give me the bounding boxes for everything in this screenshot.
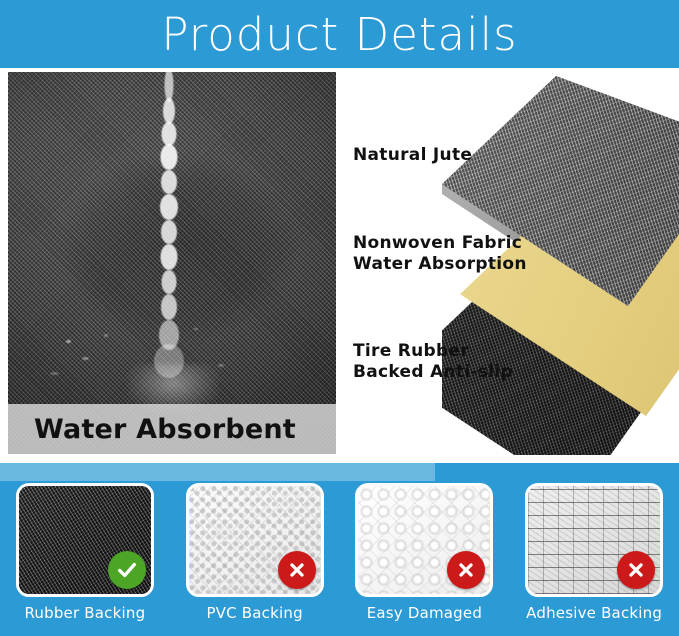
- card-label: PVC Backing: [206, 604, 302, 622]
- comparison-card-easy-damaged[interactable]: Easy Damaged: [351, 483, 497, 622]
- panel-shadow-strip: [0, 463, 435, 481]
- comparison-card-row: Rubber Backing PVC Backing: [0, 483, 679, 623]
- water-absorption-photo: Water Absorbent: [8, 72, 336, 454]
- swatch-pvc: [186, 483, 324, 597]
- check-icon: [108, 551, 146, 589]
- comparison-card-rubber-backing[interactable]: Rubber Backing: [12, 483, 158, 622]
- label-tire-rubber: Tire Rubber Backed Anti-slip: [353, 341, 513, 383]
- water-absorbent-banner: Water Absorbent: [8, 404, 336, 454]
- product-details-infographic: Product Details Water Absorbent: [0, 0, 679, 636]
- cross-icon: [278, 551, 316, 589]
- water-stream: [156, 72, 182, 398]
- comparison-section: Rubber Backing PVC Backing: [0, 463, 679, 636]
- main-panel: Water Absorbent Natural Jute Nonwoven Fa…: [0, 68, 679, 463]
- page-title: Product Details: [0, 0, 679, 68]
- water-absorbent-label: Water Absorbent: [8, 414, 296, 445]
- card-label: Adhesive Backing: [526, 604, 662, 622]
- layer-diagram: Natural Jute Nonwoven Fabric Water Absor…: [336, 68, 679, 463]
- label-nonwoven-fabric: Nonwoven Fabric Water Absorption: [353, 233, 527, 275]
- comparison-card-adhesive-backing[interactable]: Adhesive Backing: [521, 483, 667, 622]
- card-label: Easy Damaged: [367, 604, 482, 622]
- swatch-adhesive: [525, 483, 663, 597]
- swatch-foam: [355, 483, 493, 597]
- swatch-rubber: [16, 483, 154, 597]
- card-label: Rubber Backing: [24, 604, 145, 622]
- comparison-card-pvc-backing[interactable]: PVC Backing: [182, 483, 328, 622]
- diagram-bottom-mask: [336, 455, 679, 463]
- label-natural-jute: Natural Jute: [353, 145, 472, 166]
- cross-icon: [617, 551, 655, 589]
- header-banner: Product Details: [0, 0, 679, 68]
